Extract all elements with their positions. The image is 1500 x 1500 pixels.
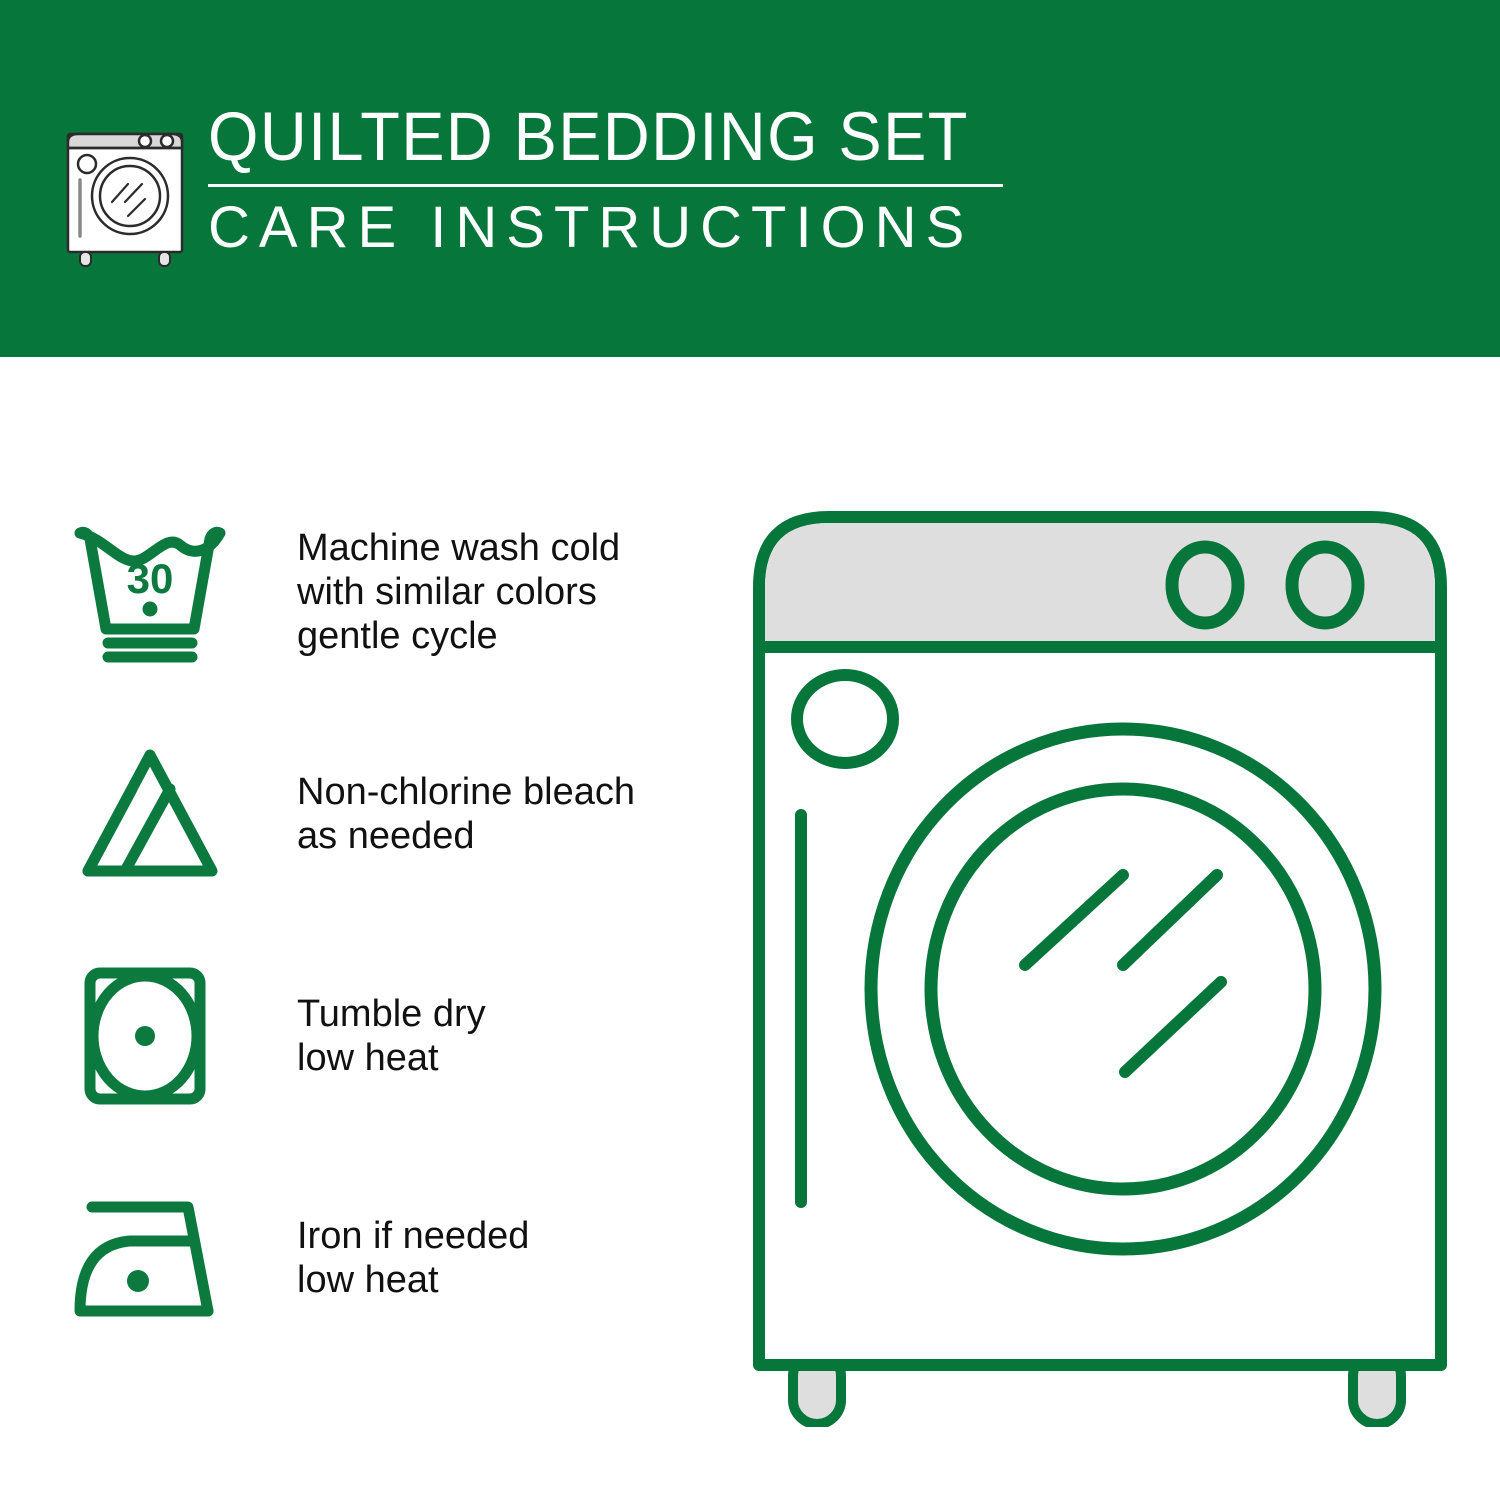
washing-machine-illustration [745,497,1455,1427]
care-symbol-list: 30 Machine wash cold with similar colors… [70,507,710,1343]
care-label-bleach: Non-chlorine bleach as needed [235,770,710,858]
care-row-machine-wash: 30 Machine wash cold with similar colors… [70,507,710,677]
non-chlorine-bleach-triangle-icon [70,739,235,889]
iron-heat-dot [127,1270,149,1292]
drum-inner-ring [931,789,1315,1189]
care-row-tumble-dry: Tumble dry low heat [70,951,710,1121]
header-band: QUILTED BEDDING SET CARE INSTRUCTIONS [0,0,1500,357]
control-knob-left [1172,547,1238,623]
tumble-dry-heat-dot [135,1026,155,1046]
care-label-tumble-dry: Tumble dry low heat [235,992,710,1080]
page-subtitle: CARE INSTRUCTIONS [208,197,1050,259]
wash-temperature-value: 30 [127,555,174,602]
header-content: QUILTED BEDDING SET CARE INSTRUCTIONS [60,98,1050,283]
content-area: 30 Machine wash cold with similar colors… [0,357,1500,1500]
wash-temperature-dot [143,602,158,617]
title-divider [208,184,1003,187]
washing-machine-icon [60,104,190,269]
care-label-machine-wash: Machine wash cold with similar colors ge… [235,526,710,658]
tumble-dry-low-heat-icon [70,961,235,1111]
care-instructions-page: QUILTED BEDDING SET CARE INSTRUCTIONS [0,0,1500,1500]
header-titles: QUILTED BEDDING SET CARE INSTRUCTIONS [208,98,1050,259]
care-row-bleach: Non-chlorine bleach as needed [70,729,710,899]
control-knob-right [1292,547,1358,623]
iron-low-heat-icon [70,1183,235,1333]
detergent-dispenser-icon [797,675,893,763]
care-label-iron: Iron if needed low heat [235,1214,710,1302]
wash-tub-30-gentle-icon: 30 [70,517,235,667]
care-row-iron: Iron if needed low heat [70,1173,710,1343]
page-title: QUILTED BEDDING SET [208,100,999,174]
